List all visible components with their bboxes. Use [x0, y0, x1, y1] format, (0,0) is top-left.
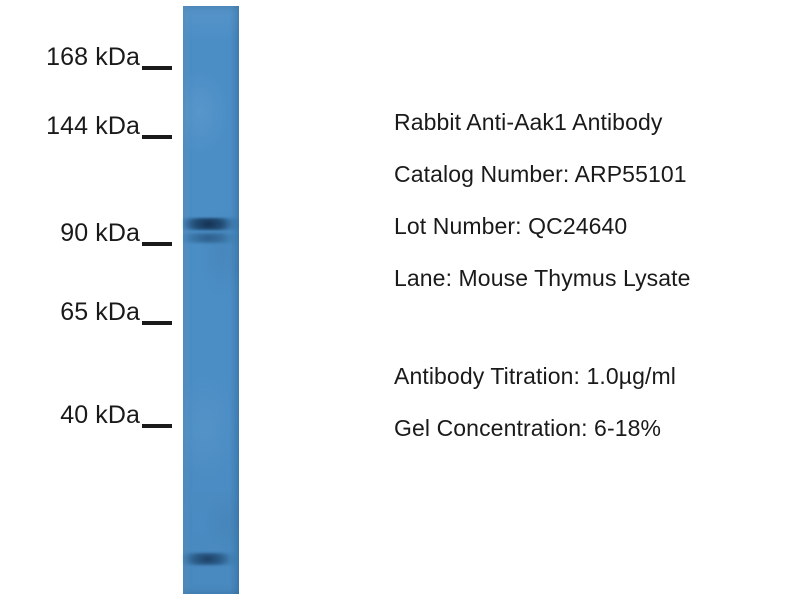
annotation-spacer — [394, 304, 790, 350]
marker-text-65: 65 kDa — [60, 298, 140, 326]
marker-text-144: 144 kDa — [46, 112, 140, 140]
protein-band-90-lower — [183, 233, 239, 243]
annotation-titration: Antibody Titration: 1.0µg/ml — [394, 350, 790, 402]
marker-label-40: 40 kDa — [60, 403, 172, 428]
marker-text-90: 90 kDa — [60, 219, 140, 247]
annotation-lot-number: Lot Number: QC24640 — [394, 200, 790, 252]
marker-text-168: 168 kDa — [46, 43, 140, 71]
gel-lane — [183, 6, 239, 594]
annotation-block: Rabbit Anti-Aak1 Antibody Catalog Number… — [394, 96, 790, 454]
annotation-lane: Lane: Mouse Thymus Lysate — [394, 252, 790, 304]
marker-label-90: 90 kDa — [60, 221, 172, 246]
annotation-gel-concentration: Gel Concentration: 6-18% — [394, 402, 790, 454]
marker-text-40: 40 kDa — [60, 401, 140, 429]
marker-ladder: 168 kDa 144 kDa 90 kDa 65 kDa 40 kDa — [0, 0, 180, 600]
marker-tick-icon-65 — [142, 321, 172, 325]
western-blot-figure: 168 kDa 144 kDa 90 kDa 65 kDa 40 kDa Rab… — [0, 0, 800, 600]
marker-label-168: 168 kDa — [46, 45, 172, 70]
annotation-catalog-number: Catalog Number: ARP55101 — [394, 148, 790, 200]
marker-label-144: 144 kDa — [46, 114, 172, 139]
protein-band-low — [183, 553, 239, 565]
marker-tick-icon-40 — [142, 424, 172, 428]
protein-band-90-upper — [183, 218, 239, 230]
annotation-antibody: Rabbit Anti-Aak1 Antibody — [394, 96, 790, 148]
marker-tick-icon-144 — [142, 135, 172, 139]
marker-tick-icon-168 — [142, 66, 172, 70]
marker-tick-icon-90 — [142, 242, 172, 246]
marker-label-65: 65 kDa — [60, 300, 172, 325]
